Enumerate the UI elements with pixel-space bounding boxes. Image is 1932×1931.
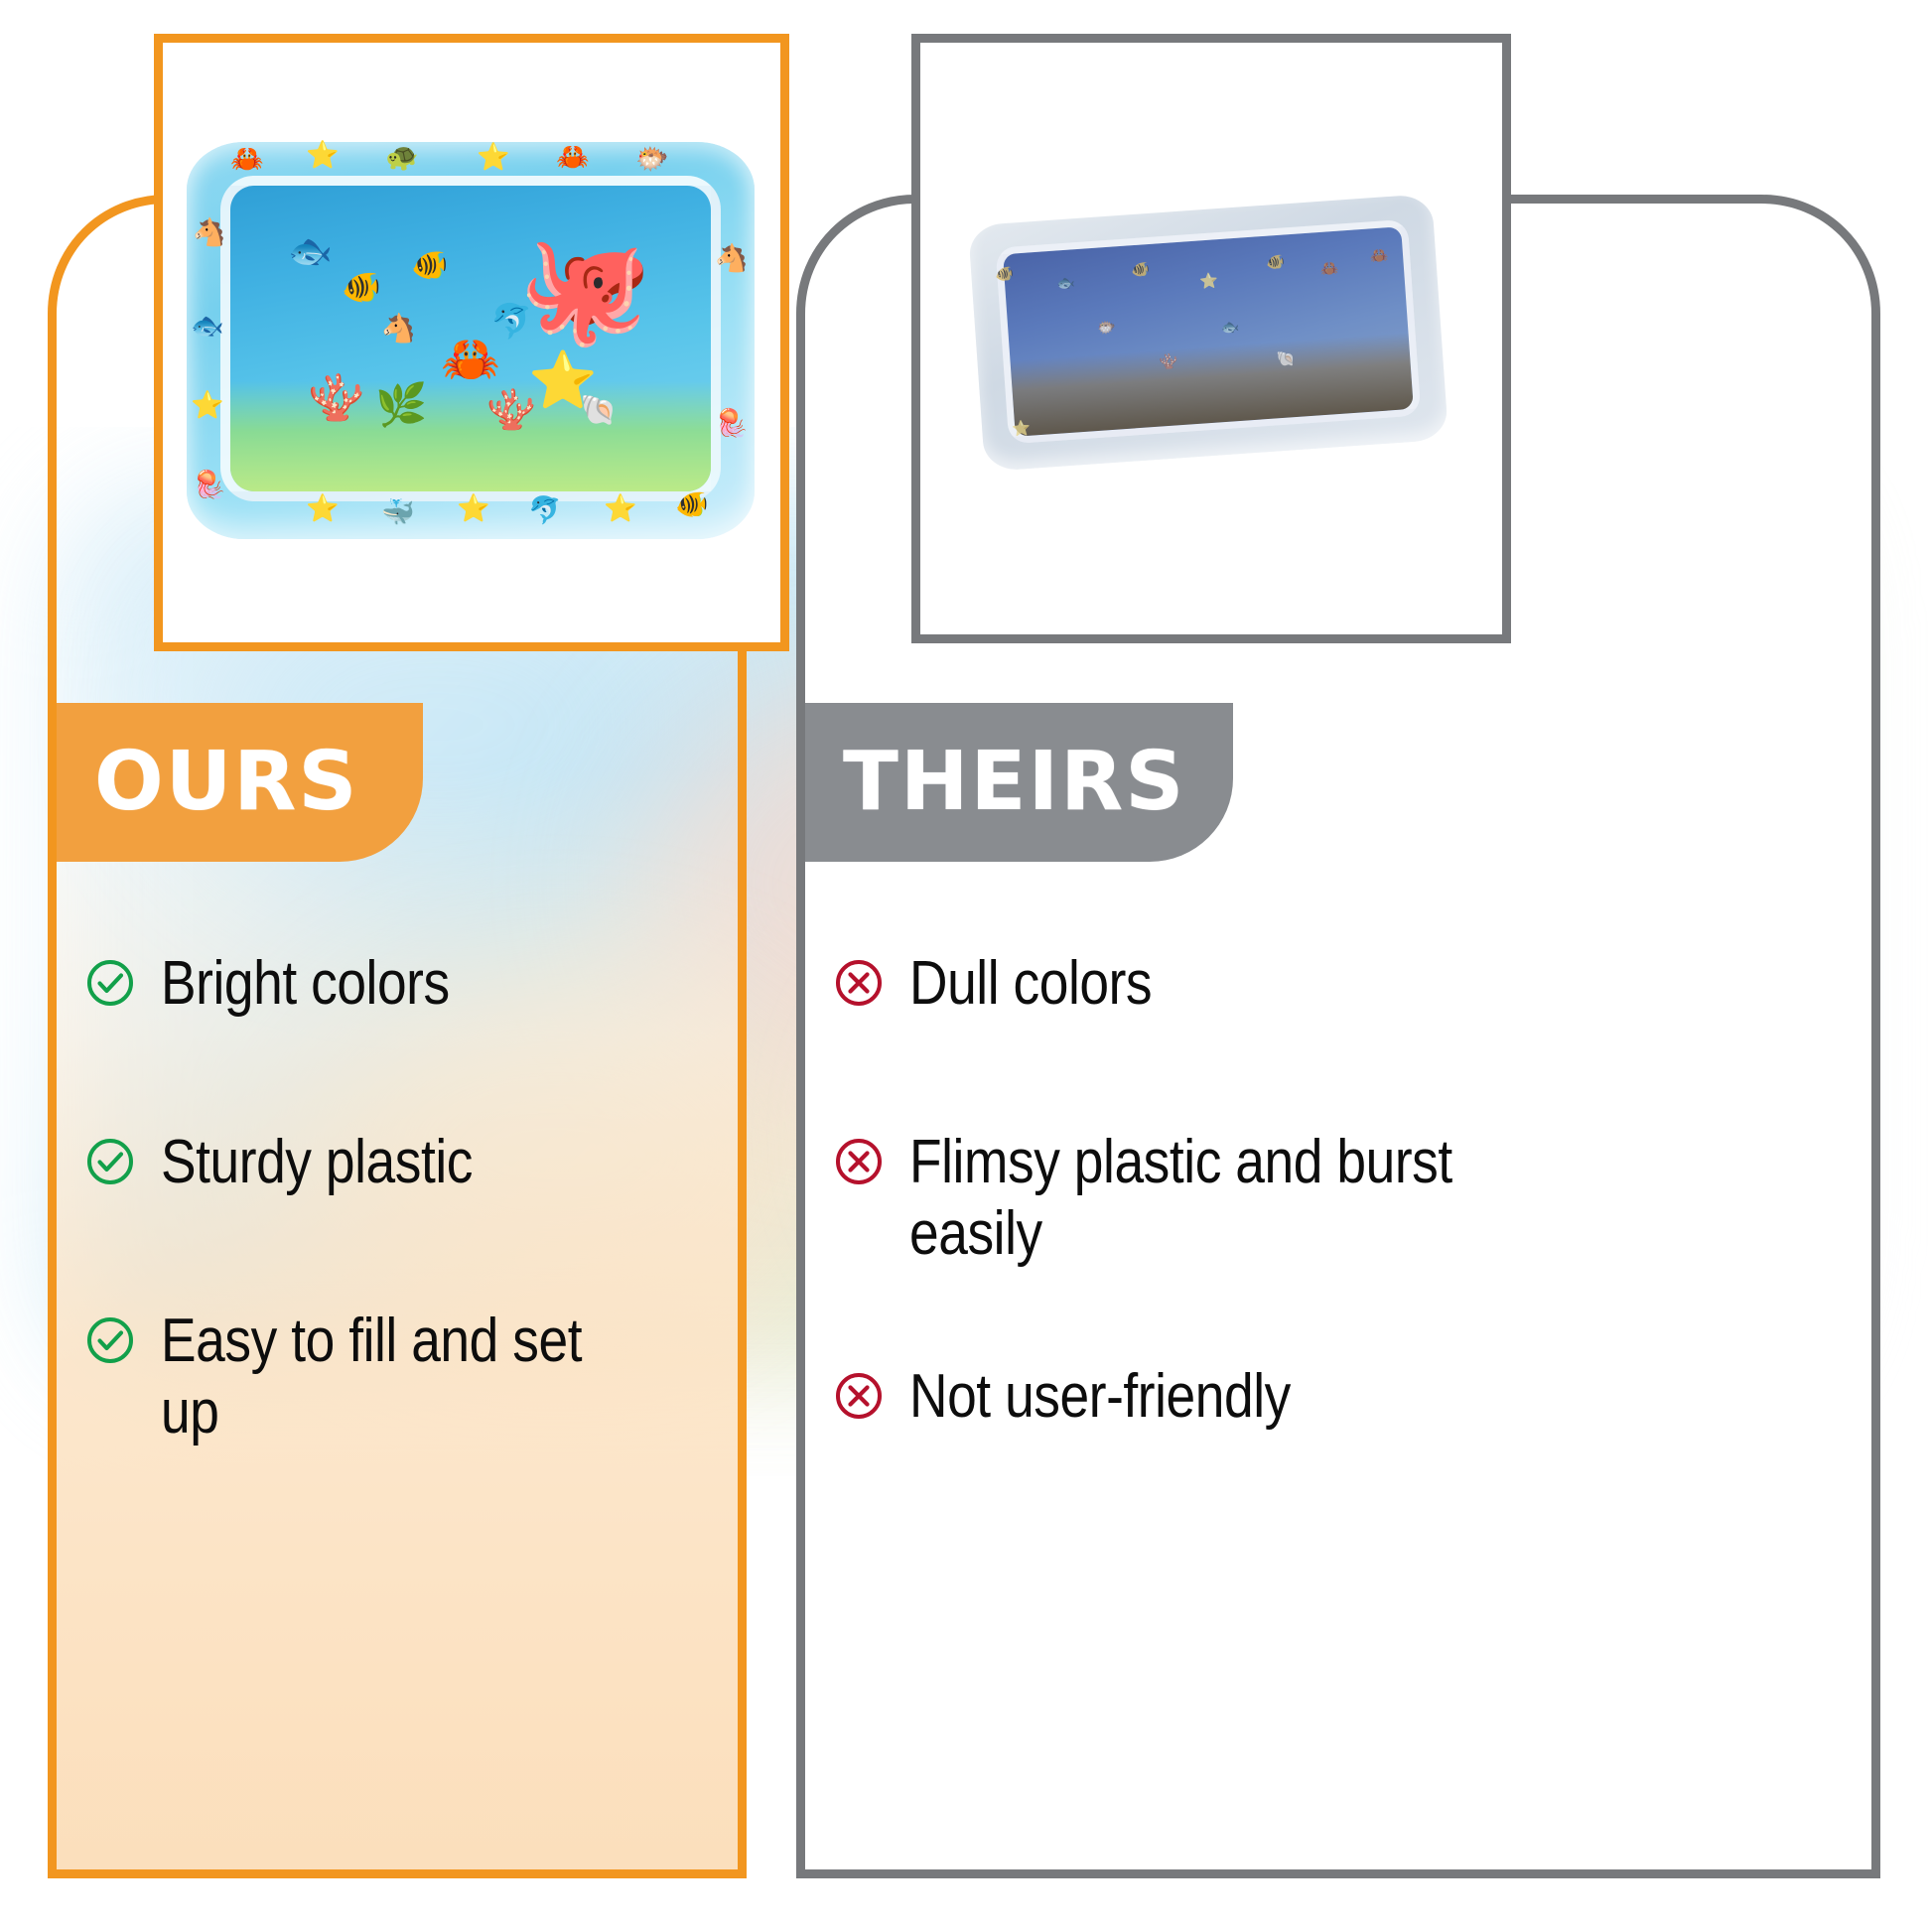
fish-icon: 🐠 — [995, 267, 1015, 283]
crab-icon: 🦀 — [1319, 261, 1339, 277]
list-item: Flimsy plastic and burst easily — [834, 1127, 1857, 1270]
fish-icon: 🐟 — [1220, 320, 1240, 336]
octopus-icon: 🐙 — [518, 235, 651, 343]
theirs-feature-list: Dull colors Flimsy plastic and burst eas… — [834, 948, 1857, 1540]
coral-icon: 🪸 — [308, 374, 364, 420]
theirs-panel-left-shoulder — [796, 195, 925, 389]
check-circle-icon — [85, 1315, 135, 1365]
check-circle-icon — [85, 958, 135, 1008]
cross-circle-icon — [834, 1371, 884, 1421]
starfish-icon: ⭐ — [1199, 273, 1219, 289]
fish-icon: 🐟 — [191, 313, 224, 340]
seahorse-icon: 🐴 — [381, 315, 416, 343]
fish-icon: 🐠 — [411, 251, 448, 281]
shell-icon: 🐚 — [1277, 351, 1297, 367]
ours-product-image: 🐙 🐟 🐠 🐠 🦀 ⭐ 🐬 🐴 🪸 🌿 🪸 🐚 🦀 ⭐ 🐢 ⭐ 🦀 🐡 🐴 🐟 — [163, 43, 780, 642]
theirs-product-image-frame: 🐟 🐠 ⭐ 🐠 🦀 🐡 🐟 🪸 🐚 ⭐ 🦀 🐠 — [911, 34, 1511, 643]
whale-icon: 🐳 — [381, 499, 415, 526]
dull-water-mat-illustration: 🐟 🐠 ⭐ 🐠 🦀 🐡 🐟 🪸 🐚 ⭐ 🦀 🐠 — [968, 194, 1449, 472]
dolphin-icon: 🐬 — [490, 305, 532, 339]
list-item-label: Flimsy plastic and burst easily — [909, 1127, 1452, 1270]
mat-seabed — [230, 381, 711, 491]
fish-icon: 🐠 — [675, 491, 709, 518]
cross-circle-icon — [834, 1137, 884, 1186]
turtle-icon: 🐢 — [385, 144, 419, 171]
mat-water-window: 🐟 🐠 ⭐ 🐠 🦀 🐡 🐟 🪸 🐚 — [996, 219, 1422, 445]
list-item-label: Sturdy plastic — [161, 1127, 473, 1198]
crab-icon: 🦀 — [1370, 248, 1390, 264]
list-item: Dull colors — [834, 948, 1857, 1020]
starfish-icon: ⭐ — [306, 142, 340, 169]
crab-icon: 🦀 — [556, 144, 590, 171]
dolphin-icon: 🐬 — [528, 497, 562, 524]
list-item-label: Dull colors — [909, 948, 1152, 1020]
starfish-icon: ⭐ — [1012, 421, 1032, 437]
ours-feature-list: Bright colors Sturdy plastic Easy to fil… — [85, 948, 711, 1556]
ours-product-image-frame: 🐙 🐟 🐠 🐠 🦀 ⭐ 🐬 🐴 🪸 🌿 🪸 🐚 🦀 ⭐ 🐢 ⭐ 🦀 🐡 🐴 🐟 — [154, 34, 789, 651]
fish-icon: 🐠 — [1266, 254, 1286, 270]
list-item-label: Not user-friendly — [909, 1361, 1291, 1433]
mat-water-window: 🐙 🐟 🐠 🐠 🦀 ⭐ 🐬 🐴 🪸 🌿 🪸 🐚 — [220, 176, 721, 501]
coral-icon: 🪸 — [1159, 353, 1178, 369]
check-circle-icon — [85, 1137, 135, 1186]
list-item-label: Bright colors — [161, 948, 450, 1020]
fish-icon: 🐟 — [1056, 275, 1076, 291]
seahorse-icon: 🐴 — [715, 245, 749, 272]
starfish-icon: ⭐ — [306, 495, 340, 522]
list-item: Sturdy plastic — [85, 1127, 711, 1198]
list-item: Easy to fill and set up — [85, 1306, 711, 1448]
list-item-label: Easy to fill and set up — [161, 1306, 633, 1448]
theirs-product-image: 🐟 🐠 ⭐ 🐠 🦀 🐡 🐟 🪸 🐚 ⭐ 🦀 🐠 — [920, 43, 1502, 634]
starfish-icon: ⭐ — [477, 144, 510, 171]
theirs-banner: THEIRS — [805, 703, 1233, 862]
seahorse-icon: 🐴 — [193, 219, 226, 246]
starfish-icon: ⭐ — [604, 495, 637, 522]
coral-icon: 🪸 — [486, 390, 536, 430]
fish-icon: 🐡 — [635, 146, 669, 173]
ours-banner: OURS — [57, 703, 423, 862]
ours-banner-label: OURS — [94, 742, 359, 823]
fish-icon: 🐡 — [1097, 320, 1117, 336]
fish-icon: 🐟 — [288, 233, 333, 269]
shell-icon: 🐚 — [580, 396, 617, 426]
list-item: Bright colors — [85, 948, 711, 1020]
fish-icon: 🐠 — [342, 271, 381, 303]
bright-water-mat-illustration: 🐙 🐟 🐠 🐠 🦀 ⭐ 🐬 🐴 🪸 🌿 🪸 🐚 🦀 ⭐ 🐢 ⭐ 🦀 🐡 🐴 🐟 — [187, 142, 755, 539]
starfish-icon: ⭐ — [191, 392, 224, 419]
cross-circle-icon — [834, 958, 884, 1008]
list-item: Not user-friendly — [834, 1361, 1857, 1433]
seaweed-icon: 🌿 — [375, 384, 427, 426]
jellyfish-icon: 🪼 — [193, 472, 226, 498]
theirs-banner-label: THEIRS — [843, 742, 1185, 823]
crab-icon: 🦀 — [441, 337, 500, 384]
jellyfish-icon: 🪼 — [715, 410, 749, 437]
crab-icon: 🦀 — [230, 146, 264, 173]
fish-icon: 🐠 — [1131, 262, 1151, 278]
starfish-icon: ⭐ — [457, 495, 490, 522]
